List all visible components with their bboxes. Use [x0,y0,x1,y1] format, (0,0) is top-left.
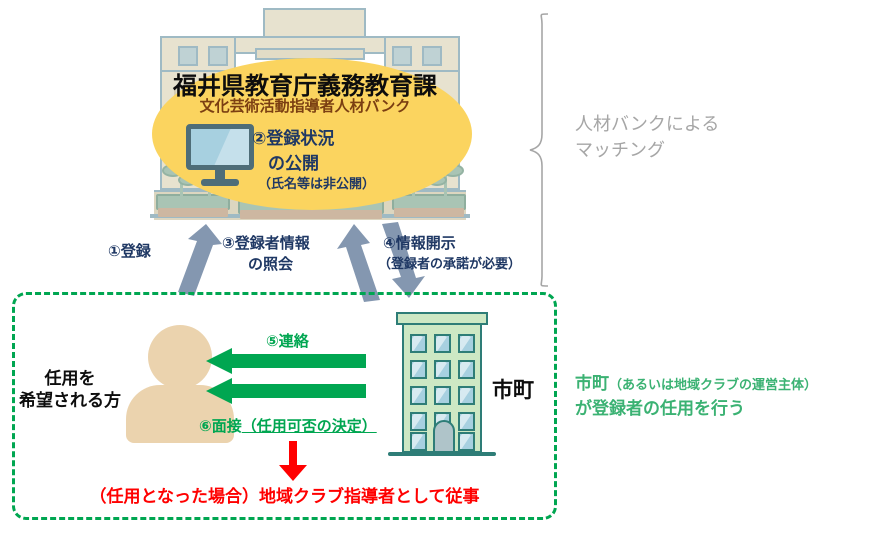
municipality-note-paren: （あるいは地域クラブの運営主体） [609,378,817,393]
step2-label-line2: の公開 [268,149,428,174]
city-hall-ground [388,452,496,456]
hedge-soil [158,208,228,217]
curly-brace-icon [528,12,554,288]
step2-label-line1: ②登録状況 [252,124,452,149]
bank-matching-note-line1: 人材バンクによる [575,112,875,138]
city-hall-window [458,432,475,451]
step6-label-underlined: （任用可否の決定） [242,417,377,435]
city-hall-window [434,334,451,353]
city-hall-window [410,360,427,379]
step2-note: （氏名等は非公開） [258,173,458,192]
city-hall-window [458,386,475,405]
step4-label-line2: （登録者の承諾が必要） [378,257,521,272]
city-hall-door [433,420,455,453]
step1-label: ①登録 [108,243,151,261]
municipality-label: 市町 [492,374,534,404]
city-hall-window [410,412,427,431]
applicant-label-line2: 希望される方 [10,390,130,412]
talent-bank-subtitle: 文化芸術活動指導者人材バンク [0,95,610,116]
city-hall-window [458,334,475,353]
hedge-soil [240,210,382,219]
applicant-label: 任用を 希望される方 [10,368,130,412]
municipality-note: 市町（あるいは地域クラブの運営主体） が登録者の任用を行う [575,372,880,421]
arrow-step6-interview-icon [206,378,366,404]
step3-label-line1: ③登録者情報 [222,235,310,253]
desktop-monitor-icon [186,124,254,188]
city-hall-building-icon [396,312,488,464]
arrow-employment-result-icon [278,441,308,481]
person-head [148,325,212,389]
city-hall-window [410,386,427,405]
municipality-note-line2: が登録者の任用を行う [575,397,880,422]
arrow-step1-registration-icon [150,222,230,298]
step3-label-line2: の照会 [248,256,293,274]
bank-matching-note-line2: マッチング [575,138,875,164]
arrow-step5-contact-icon [206,348,366,374]
applicant-label-line1: 任用を [10,368,130,390]
building-window [178,46,198,66]
city-hall-window [434,360,451,379]
city-hall-window [458,412,475,431]
step6-label: ⑥面接（任用可否の決定） [199,415,377,436]
building-window [422,46,442,66]
step4-label-line1: ④情報開示 [383,235,456,253]
building-window [392,46,412,66]
step6-label-prefix: ⑥面接 [199,417,242,435]
diagram-canvas: 福井県教育庁義務教育課 文化芸術活動指導者人材バンク ②登録状況 の公開 （氏名… [0,0,882,542]
building-window [208,46,228,66]
step5-label: ⑤連絡 [266,330,309,351]
city-hall-window [410,432,427,451]
city-hall-window [458,360,475,379]
city-hall-window [434,386,451,405]
municipality-note-main: 市町 [575,374,609,394]
municipality-note-line1: 市町（あるいは地域クラブの運営主体） [575,372,880,397]
city-hall-window [410,334,427,353]
bank-matching-note: 人材バンクによる マッチング [575,112,875,163]
hedge-soil [394,208,464,217]
employment-result-text: （任用となった場合）地域クラブ指導者として従事 [12,482,557,507]
